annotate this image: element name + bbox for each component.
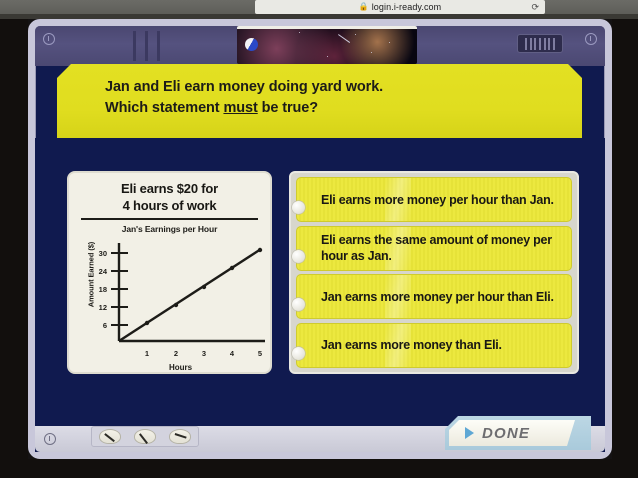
chart-title: Jan's Earnings per Hour	[75, 224, 264, 234]
play-arrow-icon	[465, 427, 474, 439]
chart-divider	[81, 218, 258, 220]
moon-icon	[245, 38, 258, 51]
chart-svg: 30 24 18 12 6 1	[75, 237, 268, 362]
svg-text:5: 5	[258, 349, 262, 358]
question-banner: Jan and Eli earn money doing yard work. …	[57, 64, 582, 138]
address-bar[interactable]: 🔒 login.i-ready.com ⟳	[255, 0, 545, 14]
chart-heading-line-2: 4 hours of work	[75, 197, 264, 214]
answer-option-a-label: Eli earns more money per hour than Jan.	[321, 192, 554, 208]
content-area: Eli earns $20 for 4 hours of work Jan's …	[35, 138, 605, 408]
space-scene-image	[237, 26, 417, 64]
svg-text:30: 30	[99, 249, 107, 258]
answer-option-c[interactable]: Jan earns more money per hour than Eli.	[296, 274, 572, 319]
done-button-inner: DONE	[449, 420, 575, 446]
question-emphasis-must: must	[223, 100, 257, 116]
tool-tray	[91, 426, 199, 447]
answer-options-panel: Eli earns more money per hour than Jan. …	[289, 171, 579, 374]
chart-plot-area: Amount Earned ($) 30 24 18	[75, 237, 264, 362]
answer-option-b[interactable]: Eli earns the same amount of money per h…	[296, 226, 572, 271]
svg-text:12: 12	[99, 303, 107, 312]
power-icon-left	[43, 33, 55, 45]
radio-button-c[interactable]	[292, 298, 305, 311]
svg-text:3: 3	[202, 349, 206, 358]
radio-button-b[interactable]	[292, 250, 305, 263]
done-button-label: DONE	[482, 425, 530, 442]
done-button[interactable]: DONE	[445, 416, 591, 450]
footer-area: DONE	[35, 408, 605, 452]
screenshot-root: 🔒 login.i-ready.com ⟳	[0, 0, 638, 478]
header-bars-decoration	[133, 31, 160, 61]
vent-grille-icon	[517, 34, 563, 53]
radio-button-a[interactable]	[292, 201, 305, 214]
svg-text:24: 24	[99, 267, 108, 276]
pencil-tool-icon-1[interactable]	[99, 429, 121, 444]
reload-icon[interactable]: ⟳	[531, 2, 539, 12]
power-icon-footer	[44, 433, 56, 445]
answer-option-d-label: Jan earns more money than Eli.	[321, 337, 502, 353]
app-frame: Jan and Eli earn money doing yard work. …	[28, 19, 612, 459]
question-line-1: Jan and Eli earn money doing yard work.	[105, 77, 582, 98]
question-line-2-post: be true?	[258, 100, 318, 116]
app-header	[35, 26, 605, 66]
answer-option-d[interactable]: Jan earns more money than Eli.	[296, 323, 572, 368]
svg-text:2: 2	[174, 349, 178, 358]
svg-text:1: 1	[145, 349, 149, 358]
answer-option-b-label: Eli earns the same amount of money per h…	[321, 232, 563, 264]
pencil-tool-icon-3[interactable]	[169, 429, 191, 444]
svg-text:6: 6	[103, 321, 107, 330]
chart-x-axis-label: Hours	[75, 363, 264, 372]
browser-chrome: 🔒 login.i-ready.com ⟳	[0, 0, 638, 14]
power-icon-right	[585, 33, 597, 45]
svg-text:4: 4	[230, 349, 235, 358]
chart-card-heading: Eli earns $20 for 4 hours of work	[75, 180, 264, 214]
answer-option-a[interactable]: Eli earns more money per hour than Jan.	[296, 177, 572, 222]
pencil-tool-icon-2[interactable]	[134, 429, 156, 444]
url-text: login.i-ready.com	[372, 2, 442, 12]
question-line-2-pre: Which statement	[105, 100, 223, 116]
question-line-2: Which statement must be true?	[105, 98, 582, 119]
chart-heading-line-1: Eli earns $20 for	[75, 180, 264, 197]
lock-icon: 🔒	[359, 3, 369, 11]
radio-button-d[interactable]	[292, 347, 305, 360]
comet-streak	[338, 34, 350, 43]
answer-option-c-label: Jan earns more money per hour than Eli.	[321, 289, 554, 305]
chart-card: Eli earns $20 for 4 hours of work Jan's …	[67, 171, 272, 374]
svg-text:18: 18	[99, 285, 107, 294]
